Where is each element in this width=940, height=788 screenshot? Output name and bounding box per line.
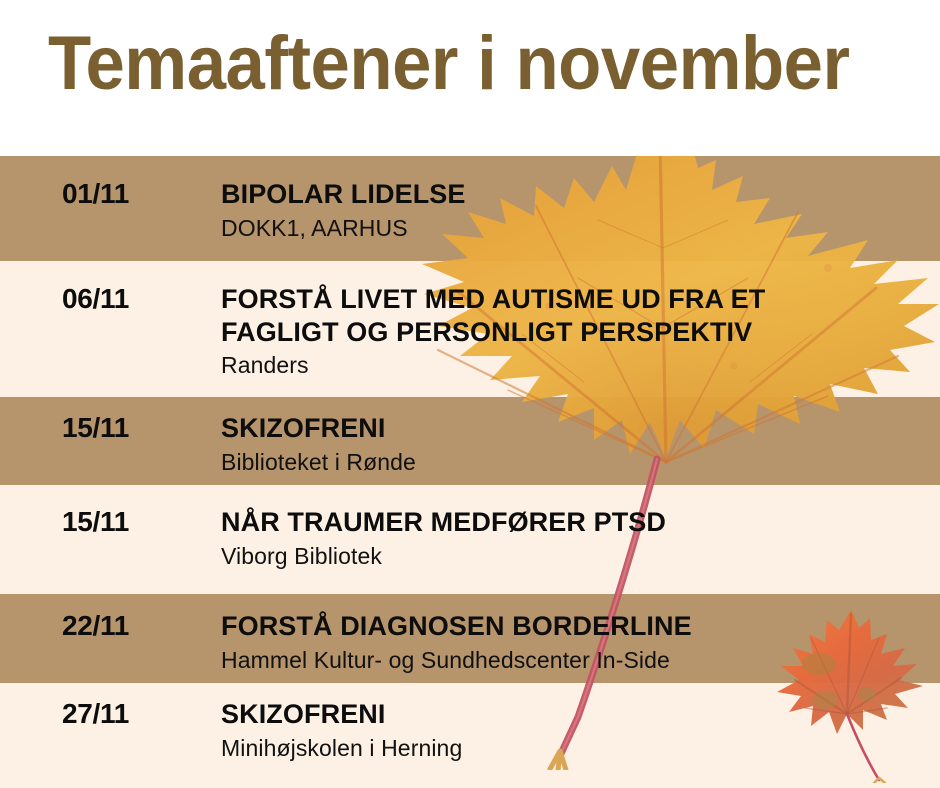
event-body: SKIZOFRENIBiblioteket i Rønde	[221, 412, 930, 476]
event-venue: Minihøjskolen i Herning	[221, 734, 930, 763]
page-title: Temaaftener i november	[48, 26, 850, 102]
event-title: BIPOLAR LIDELSE	[221, 178, 930, 211]
event-venue: Hammel Kultur- og Sundhedscenter In-Side	[221, 646, 930, 675]
event-date: 27/11	[62, 698, 129, 730]
event-body: FORSTÅ LIVET MED AUTISME UD FRA ET FAGLI…	[221, 283, 930, 380]
event-date: 22/11	[62, 610, 129, 642]
event-title: NÅR TRAUMER MEDFØRER PTSD	[221, 506, 930, 539]
event-venue: Randers	[221, 351, 930, 380]
poster-header: Temaaftener i november	[0, 0, 940, 156]
poster-canvas: Temaaftener i november 01/11BIPOLAR LIDE…	[0, 0, 940, 788]
event-date: 15/11	[62, 412, 129, 444]
event-title: SKIZOFRENI	[221, 698, 930, 731]
event-body: NÅR TRAUMER MEDFØRER PTSDViborg Bibliote…	[221, 506, 930, 570]
event-title: SKIZOFRENI	[221, 412, 930, 445]
event-body: SKIZOFRENIMinihøjskolen i Herning	[221, 698, 930, 762]
event-date: 06/11	[62, 283, 129, 315]
event-title: FORSTÅ DIAGNOSEN BORDERLINE	[221, 610, 930, 643]
event-venue: DOKK1, AARHUS	[221, 214, 930, 243]
event-venue: Viborg Bibliotek	[221, 542, 930, 571]
event-body: BIPOLAR LIDELSEDOKK1, AARHUS	[221, 178, 930, 242]
event-body: FORSTÅ DIAGNOSEN BORDERLINEHammel Kultur…	[221, 610, 930, 674]
event-title: FORSTÅ LIVET MED AUTISME UD FRA ET FAGLI…	[221, 283, 930, 348]
event-date: 01/11	[62, 178, 129, 210]
event-date: 15/11	[62, 506, 129, 538]
event-venue: Biblioteket i Rønde	[221, 448, 930, 477]
